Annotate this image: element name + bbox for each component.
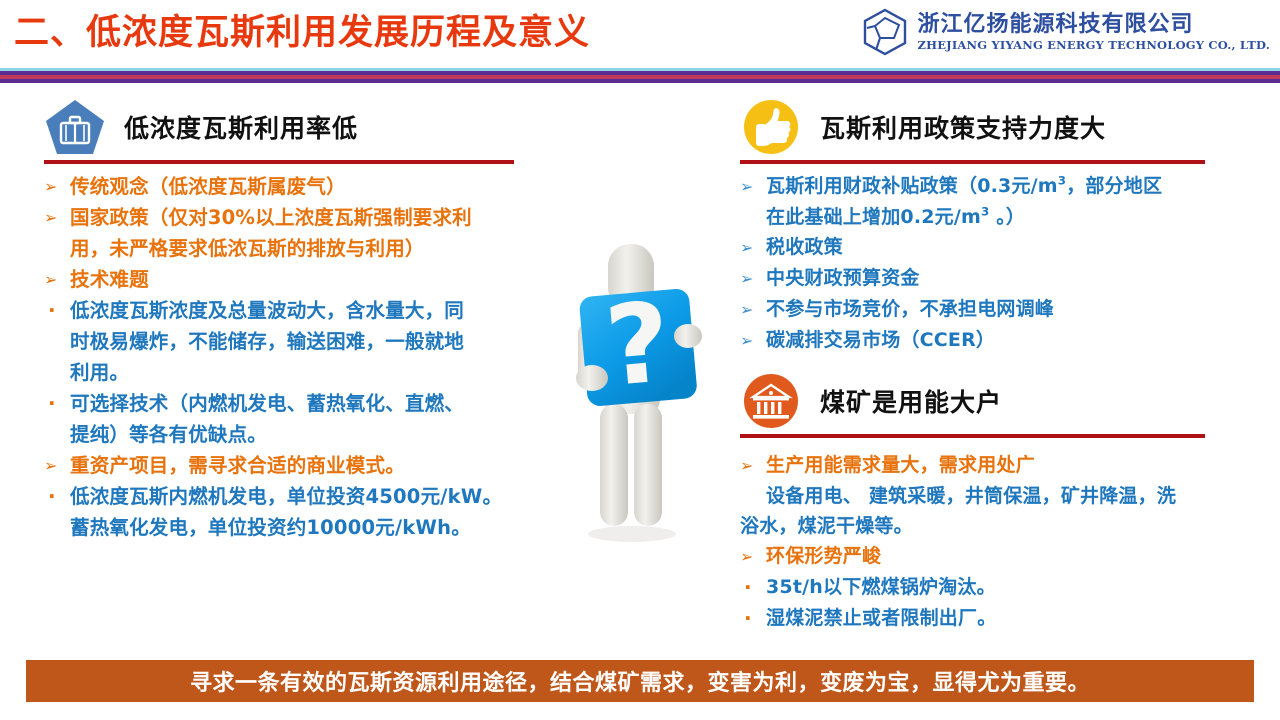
list-item: ➢ 传统观念（低浓度瓦斯属废气）	[44, 171, 544, 202]
hexagon-cube-logo-icon	[862, 8, 908, 56]
arrow-bullet-icon: ➢	[740, 232, 766, 263]
left-bullet-list: ➢ 传统观念（低浓度瓦斯属废气） ➢ 国家政策（仅对30%以上浓度瓦斯强制要求利…	[44, 171, 544, 543]
list-item-text: 生产用能需求量大，需求用处广	[766, 450, 1252, 480]
arrow-bullet-icon: ➢	[44, 171, 70, 202]
list-item: ➢ 重资产项目，需寻求合适的商业模式。	[44, 450, 544, 481]
dot-bullet-icon: ·	[740, 572, 766, 603]
arrow-bullet-icon: ➢	[740, 171, 766, 202]
list-item-text: 设备用电、 建筑采暖，井筒保温，矿井降温，洗	[766, 481, 1252, 511]
divider-bar-rose	[0, 75, 1280, 79]
list-item-text: 浴水，煤泥干燥等。	[740, 511, 1252, 541]
list-item: ➢ 瓦斯利用财政补贴政策（0.3元/m3，部分地区	[740, 171, 1252, 202]
arrow-bullet-icon: ➢	[740, 541, 766, 572]
section-title-policy: 瓦斯利用政策支持力度大	[820, 109, 1106, 145]
company-name-cn: 浙江亿扬能源科技有限公司	[918, 12, 1270, 38]
list-item-text: 在此基础上增加0.2元/m3 。）	[766, 202, 1252, 232]
arrow-bullet-icon: ➢	[740, 263, 766, 294]
svg-text:?: ?	[601, 278, 676, 411]
list-item-text: 蓄热氧化发电，单位投资约10000元/kWh。	[70, 512, 544, 543]
bank-building-circle-icon	[740, 371, 802, 431]
list-item-text: 可选择技术（内燃机发电、蓄热氧化、直燃、	[70, 388, 544, 419]
arrow-bullet-icon: ➢	[740, 294, 766, 325]
coal-mine-bullet-list: ➢ 生产用能需求量大，需求用处广 设备用电、 建筑采暖，井筒保温，矿井降温，洗 …	[740, 450, 1252, 634]
list-item: ➢ 不参与市场竞价，不承担电网调峰	[740, 294, 1252, 325]
section-header-coal-mine: 煤矿是用能大户	[740, 370, 1252, 432]
list-item-text: 35t/h以下燃煤锅炉淘汰。	[766, 572, 1252, 602]
3d-figure-holding-question-sign: ?	[548, 236, 740, 566]
list-item-text: 传统观念（低浓度瓦斯属废气）	[70, 171, 544, 202]
section-rule-policy	[740, 160, 1205, 164]
list-item: · 低浓度瓦斯内燃机发电，单位投资4500元/kW。	[44, 481, 544, 512]
slide-header: 二、低浓度瓦斯利用发展历程及意义 浙江亿扬能源科技有限公司 ZHEJIANG Y…	[0, 0, 1280, 68]
arrow-bullet-icon: ➢	[44, 202, 70, 233]
section-title-utilization: 低浓度瓦斯利用率低	[124, 109, 358, 145]
list-item-continuation: 用，未严格要求低浓瓦斯的排放与利用）	[44, 233, 544, 264]
list-item-continuation: 时极易爆炸，不能储存，输送困难，一般就地	[44, 326, 544, 357]
list-item: ➢ 国家政策（仅对30%以上浓度瓦斯强制要求利	[44, 202, 544, 233]
list-item: ➢ 中央财政预算资金	[740, 263, 1252, 294]
dot-bullet-icon: ·	[740, 603, 766, 634]
summary-banner-text: 寻求一条有效的瓦斯资源利用途径，结合煤矿需求，变害为利，变废为宝，显得尤为重要。	[190, 665, 1090, 697]
section-policy: 瓦斯利用政策支持力度大 ➢ 瓦斯利用财政补贴政策（0.3元/m3，部分地区 在此…	[740, 96, 1252, 356]
summary-banner: 寻求一条有效的瓦斯资源利用途径，结合煤矿需求，变害为利，变废为宝，显得尤为重要。	[26, 660, 1254, 702]
header-divider	[0, 68, 1280, 83]
dot-bullet-icon: ·	[44, 295, 70, 326]
company-logo: 浙江亿扬能源科技有限公司 ZHEJIANG YIYANG ENERGY TECH…	[862, 8, 1270, 56]
list-item-text: 低浓度瓦斯内燃机发电，单位投资4500元/kW。	[70, 481, 544, 512]
list-item: · 可选择技术（内燃机发电、蓄热氧化、直燃、	[44, 388, 544, 419]
list-item-continuation: 利用。	[44, 357, 544, 388]
list-item-text: 提纯）等各有优缺点。	[70, 419, 544, 450]
list-item-text: 环保形势严峻	[766, 541, 1252, 571]
company-name-en: ZHEJIANG YIYANG ENERGY TECHNOLOGY CO., L…	[918, 38, 1270, 52]
thumbs-up-circle-icon	[740, 97, 802, 157]
list-item-continuation: 在此基础上增加0.2元/m3 。）	[740, 202, 1252, 232]
section-header-policy: 瓦斯利用政策支持力度大	[740, 96, 1252, 158]
dot-bullet-icon: ·	[44, 388, 70, 419]
section-rule-coal-mine	[740, 434, 1205, 438]
arrow-bullet-icon: ➢	[740, 325, 766, 356]
list-item-continuation: 蓄热氧化发电，单位投资约10000元/kWh。	[44, 512, 544, 543]
section-coal-mine: 煤矿是用能大户 ➢ 生产用能需求量大，需求用处广 设备用电、 建筑采暖，井筒保温…	[740, 370, 1252, 634]
slide-canvas: 二、低浓度瓦斯利用发展历程及意义 浙江亿扬能源科技有限公司 ZHEJIANG Y…	[0, 0, 1280, 720]
left-column: 低浓度瓦斯利用率低 ➢ 传统观念（低浓度瓦斯属废气） ➢ 国家政策（仅对30%以…	[44, 96, 544, 543]
list-item-text: 中央财政预算资金	[766, 263, 1252, 293]
list-item-text: 用，未严格要求低浓瓦斯的排放与利用）	[70, 233, 544, 264]
right-column: 瓦斯利用政策支持力度大 ➢ 瓦斯利用财政补贴政策（0.3元/m3，部分地区 在此…	[740, 96, 1252, 634]
policy-bullet-list: ➢ 瓦斯利用财政补贴政策（0.3元/m3，部分地区 在此基础上增加0.2元/m3…	[740, 171, 1252, 356]
list-item: ➢ 碳减排交易市场（CCER）	[740, 325, 1252, 356]
list-item: ➢ 税收政策	[740, 232, 1252, 263]
list-item-text: 碳减排交易市场（CCER）	[766, 325, 1252, 355]
list-item: ➢ 技术难题	[44, 264, 544, 295]
list-item: ➢ 生产用能需求量大，需求用处广	[740, 450, 1252, 481]
dot-bullet-icon: ·	[44, 481, 70, 512]
briefcase-pentagon-icon	[44, 97, 106, 157]
arrow-bullet-icon: ➢	[44, 450, 70, 481]
list-item-continuation: 提纯）等各有优缺点。	[44, 419, 544, 450]
list-item-text: 国家政策（仅对30%以上浓度瓦斯强制要求利	[70, 202, 544, 233]
list-item-text: 利用。	[70, 357, 544, 388]
list-item-text: 时极易爆炸，不能储存，输送困难，一般就地	[70, 326, 544, 357]
list-item: · 35t/h以下燃煤锅炉淘汰。	[740, 572, 1252, 603]
list-item-continuation: 设备用电、 建筑采暖，井筒保温，矿井降温，洗	[740, 481, 1252, 511]
list-item-continuation: 浴水，煤泥干燥等。	[714, 511, 1252, 541]
section-header-utilization: 低浓度瓦斯利用率低	[44, 96, 544, 158]
list-item: ➢ 环保形势严峻	[740, 541, 1252, 572]
list-item-text: 湿煤泥禁止或者限制出厂。	[766, 603, 1252, 633]
list-item: · 低浓度瓦斯浓度及总量波动大，含水量大，同	[44, 295, 544, 326]
logo-text-block: 浙江亿扬能源科技有限公司 ZHEJIANG YIYANG ENERGY TECH…	[918, 12, 1270, 52]
list-item-text: 不参与市场竞价，不承担电网调峰	[766, 294, 1252, 324]
page-title: 二、低浓度瓦斯利用发展历程及意义	[14, 10, 590, 56]
list-item-text: 税收政策	[766, 232, 1252, 262]
list-item-text: 技术难题	[70, 264, 544, 295]
section-rule-utilization	[44, 160, 514, 164]
list-item-text: 瓦斯利用财政补贴政策（0.3元/m3，部分地区	[766, 171, 1252, 201]
section-title-coal-mine: 煤矿是用能大户	[820, 383, 1002, 419]
list-item: · 湿煤泥禁止或者限制出厂。	[740, 603, 1252, 634]
arrow-bullet-icon: ➢	[740, 450, 766, 481]
list-item-text: 低浓度瓦斯浓度及总量波动大，含水量大，同	[70, 295, 544, 326]
list-item-text: 重资产项目，需寻求合适的商业模式。	[70, 450, 544, 481]
arrow-bullet-icon: ➢	[44, 264, 70, 295]
